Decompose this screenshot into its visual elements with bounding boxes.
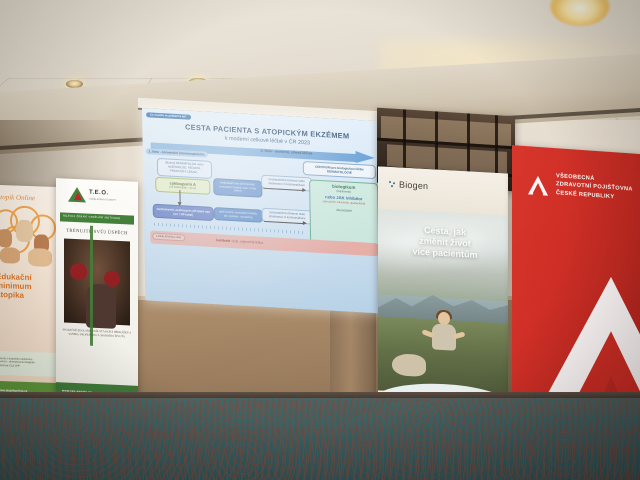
box-dose-note-2: delší úvodní, kumulativní toxicita, lab.…	[214, 207, 263, 223]
biogen-person-photo	[424, 309, 464, 381]
conference-foyer-photo: Co nového ve pediatrii 5 let? CESTA PACI…	[0, 0, 640, 480]
box-biologikum: biologikum (dupilumab) nebo JAK inhibito…	[309, 179, 379, 247]
biogen-brand-name: Biogen	[399, 180, 428, 192]
biogen-header-band	[378, 166, 508, 215]
biogen-claim: Cesta, jak změnit život více pacientům	[386, 223, 504, 263]
vzp-logo-icon	[526, 173, 550, 199]
teo-triangle-red	[74, 192, 82, 200]
box-cyklosporin-sub: pro krátkodobé, >16 let	[159, 185, 207, 191]
teo-tagline: VZDĚLÁVÁNÍ A EVENTY	[89, 198, 116, 202]
kortikoid-label-main: kortikoid	[216, 238, 230, 243]
biogen-logo-icon	[389, 181, 396, 188]
vzp-wordmark: VŠEOBECNÁ ZDRAVOTNÍ POJIŠŤOVNA ČESKÉ REP…	[556, 172, 633, 203]
ceiling-lamp-bright	[550, 0, 610, 26]
patterned-carpet-floor	[0, 398, 640, 480]
atopik-people-photo	[0, 215, 60, 269]
biologikum-duration: dlouhodobě	[313, 207, 375, 215]
box-dose-note-1: krátkodobě nebo přerušovaně, kumulativní…	[213, 178, 262, 197]
teo-boxing-glove	[104, 270, 120, 287]
box-methotrexat: methotrexát, azathioprin off-label use (…	[153, 204, 214, 222]
slide-top-chip: Co nového ve pediatrii 5 let?	[146, 112, 191, 120]
atopik-title: Atopik Online	[0, 193, 35, 202]
teo-brand-name: T.E.O.	[89, 190, 109, 197]
atopik-headline: Edukační minimum atopika	[0, 273, 60, 302]
box-dermatolog: školený DERMATOLOG nebo ALERGOLOG, PEDIA…	[157, 158, 212, 179]
arrow-down-connector	[179, 190, 181, 203]
box-cyklosporin: cyklosporin A pro krátkodobé, >16 let	[155, 177, 210, 195]
banner-atopik-online: Atopik Online Edukační minimum atopika P…	[0, 185, 60, 399]
box-centrum-biologicka-lecba: CENTRUM pro biologickou léčbu DERMATOLOG…	[303, 161, 376, 179]
teo-boxing-glove	[70, 263, 87, 281]
biogen-dog	[392, 353, 426, 377]
projection-screen: Co nového ve pediatrii 5 let? CESTA PACI…	[142, 108, 385, 322]
atopik-info-text: Pacienty s atopickým ekzémem odborníci -…	[0, 357, 35, 368]
teo-claim-text: SPOLEČNĚ ZDOLÁME VAŠE STÁVAJÍCÍ PŘEKÁŽKY…	[62, 328, 132, 339]
teo-accent-stripe	[90, 226, 93, 346]
arrow-tip	[356, 151, 375, 164]
teo-boxer-photo	[64, 239, 130, 326]
projected-slide: Co nového ve pediatrii 5 let? CESTA PACI…	[142, 108, 385, 314]
teo-headline: TRÉNUJTE SVŮJ ÚSPĚCH	[62, 227, 132, 235]
banner-teo: T.E.O. VZDĚLÁVÁNÍ A EVENTY ROZVOJ ZDRAVÍ…	[56, 178, 138, 400]
carpet-pattern	[0, 398, 640, 480]
teo-logo-icon	[68, 187, 86, 204]
